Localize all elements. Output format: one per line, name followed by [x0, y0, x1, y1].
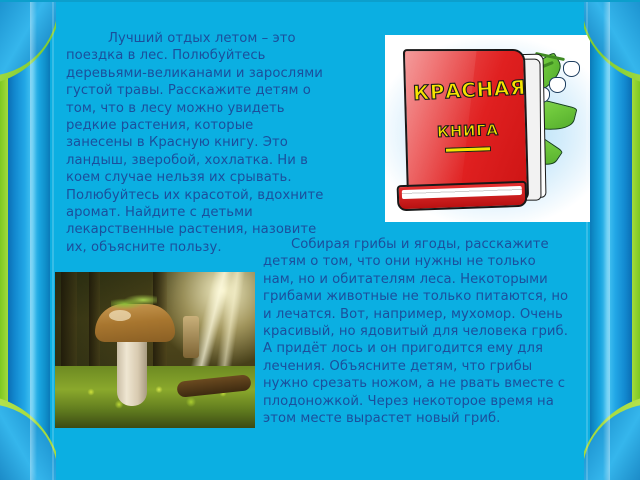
body-paragraph-2: Собирая грибы и ягоды, расскажите детям … — [263, 236, 569, 427]
decorative-border-left — [0, 0, 56, 480]
grass-blades — [111, 290, 157, 310]
tree-stump — [183, 316, 199, 358]
flower-bell-icon — [549, 77, 566, 93]
book-title-line-2: Книга — [437, 121, 499, 141]
decorative-border-right — [584, 0, 640, 480]
flower-bell-icon — [563, 61, 580, 77]
tube-highlight-right — [603, 0, 610, 480]
body-paragraph-1: Лучший отдых летом – это поездка в лес. … — [66, 30, 324, 256]
book-spine — [397, 181, 528, 212]
tube-innerline-right — [586, 0, 588, 480]
moss-ground — [55, 366, 255, 428]
red-book-image: Красная Книга — [385, 35, 595, 222]
mushroom-image — [55, 272, 255, 428]
slide-top-edge-line — [0, 0, 640, 2]
mushroom-cap-highlight — [109, 310, 131, 321]
book-page-edges — [402, 186, 522, 199]
slide-canvas: Красная Книга Лучший отдых летом – это п… — [0, 0, 640, 480]
tube-innerline-left — [52, 0, 54, 480]
tube-highlight-left — [30, 0, 37, 480]
